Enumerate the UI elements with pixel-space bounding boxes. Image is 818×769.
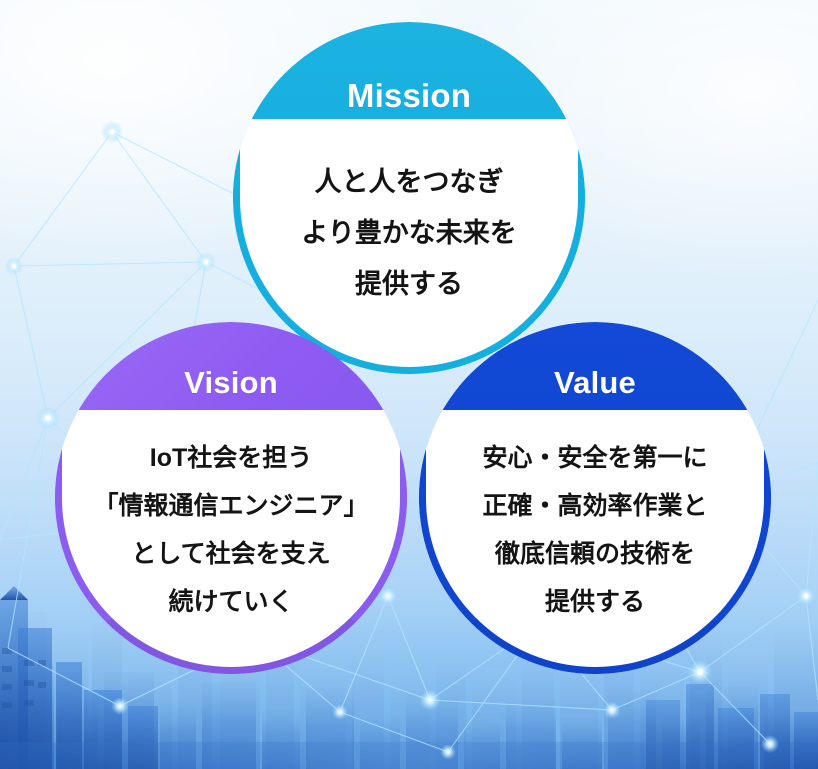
vision-line-3: として社会を支え: [62, 530, 400, 578]
mvv-graphic: 人と人をつなぎ より豊かな未来を 提供する Mission IoT社会を担う 「…: [0, 0, 818, 769]
vision-text-lines: IoT社会を担う 「情報通信エンジニア」 として社会を支え 続けていく: [62, 434, 400, 626]
vision-line-4: 続けていく: [62, 578, 400, 626]
mission-circle[interactable]: 人と人をつなぎ より豊かな未来を 提供する Mission: [233, 22, 585, 374]
value-line-2: 正確・高効率作業と: [426, 482, 764, 530]
mission-line-2: より豊かな未来を: [240, 208, 578, 259]
mission-header-label: Mission: [233, 77, 585, 115]
vision-circle[interactable]: IoT社会を担う 「情報通信エンジニア」 として社会を支え 続けていく Visi…: [55, 322, 407, 674]
value-circle[interactable]: 安心・安全を第一に 正確・高効率作業と 徹底信頼の技術を 提供する Value: [419, 322, 771, 674]
mission-line-1: 人と人をつなぎ: [240, 157, 578, 208]
mission-text-lines: 人と人をつなぎ より豊かな未来を 提供する: [240, 157, 578, 310]
value-header-label: Value: [419, 365, 771, 401]
value-line-1: 安心・安全を第一に: [426, 434, 764, 482]
mission-line-3: 提供する: [240, 259, 578, 310]
value-text-lines: 安心・安全を第一に 正確・高効率作業と 徹底信頼の技術を 提供する: [426, 434, 764, 626]
vision-line-1: IoT社会を担う: [62, 434, 400, 482]
vision-line-2: 「情報通信エンジニア」: [62, 482, 400, 530]
value-line-3: 徹底信頼の技術を: [426, 530, 764, 578]
value-line-4: 提供する: [426, 578, 764, 626]
vision-header-label: Vision: [55, 365, 407, 401]
